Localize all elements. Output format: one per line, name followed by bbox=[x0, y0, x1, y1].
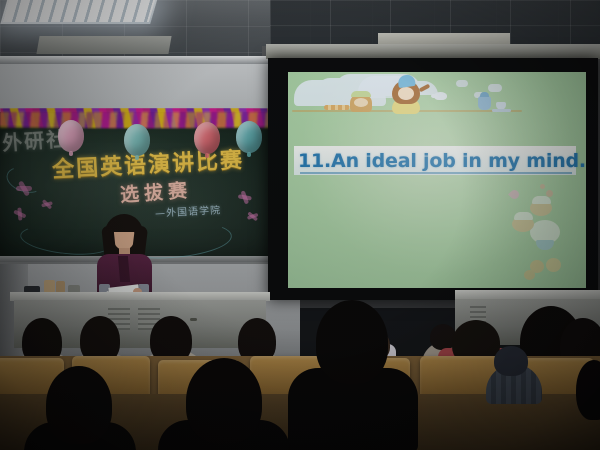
balloon-pink-icon bbox=[58, 120, 84, 152]
bubble-icon bbox=[546, 190, 553, 197]
bird-icon bbox=[434, 92, 447, 100]
screen-top-housing bbox=[266, 44, 600, 59]
balloon-cyan-icon bbox=[236, 121, 262, 153]
light-housing bbox=[36, 36, 171, 54]
audience-head-foreground bbox=[186, 358, 262, 444]
bead-chain-icon bbox=[324, 105, 350, 110]
character-hat-icon bbox=[532, 196, 551, 204]
bubble-icon bbox=[540, 184, 545, 189]
balloon-red-icon bbox=[194, 122, 220, 154]
slide-title-text: 11.An ideal job in my mind. bbox=[298, 147, 578, 174]
presenter-speaker bbox=[93, 214, 155, 298]
wall-rail bbox=[0, 56, 290, 64]
presenter-coat-lapel bbox=[118, 256, 130, 282]
projected-slide: 11.An ideal job in my mind. bbox=[288, 72, 586, 288]
desk-knob bbox=[190, 318, 197, 321]
bowl-icon bbox=[536, 240, 554, 250]
cartoon-girl-arm-icon bbox=[419, 84, 431, 93]
cloud-small-icon bbox=[456, 80, 468, 87]
cartoon-girl-face-icon bbox=[398, 87, 414, 100]
slide-bottom-right-clipart bbox=[510, 190, 580, 280]
audience-head-edge bbox=[576, 360, 600, 420]
light-tubes bbox=[3, 0, 155, 22]
fluorescent-light-panel-icon bbox=[0, 0, 157, 24]
audience-head-foreground bbox=[316, 300, 388, 384]
classroom-photo: 外研社 全国英语演讲比赛 选拔赛 —外国语学院 bbox=[0, 0, 600, 450]
chalk-flower-icon bbox=[16, 186, 32, 202]
slide-clipart-banner bbox=[288, 74, 586, 116]
cloud-small-icon bbox=[488, 84, 502, 92]
balloon-teal-icon bbox=[124, 124, 150, 156]
teapot-lid-icon bbox=[480, 92, 489, 97]
teapot-icon bbox=[478, 96, 491, 110]
critter-face-icon bbox=[354, 98, 368, 107]
character-hat-icon bbox=[514, 212, 533, 220]
flower-icon bbox=[524, 270, 535, 280]
heart-icon bbox=[508, 188, 521, 201]
audience-head-foreground bbox=[46, 366, 112, 444]
saucer-icon bbox=[492, 109, 511, 112]
flower-icon bbox=[546, 258, 561, 272]
chalk-flower-icon bbox=[236, 194, 252, 210]
audience-head bbox=[494, 346, 528, 376]
cartoon-girl-hat-icon bbox=[397, 74, 416, 88]
critter-hat-icon bbox=[351, 91, 371, 97]
